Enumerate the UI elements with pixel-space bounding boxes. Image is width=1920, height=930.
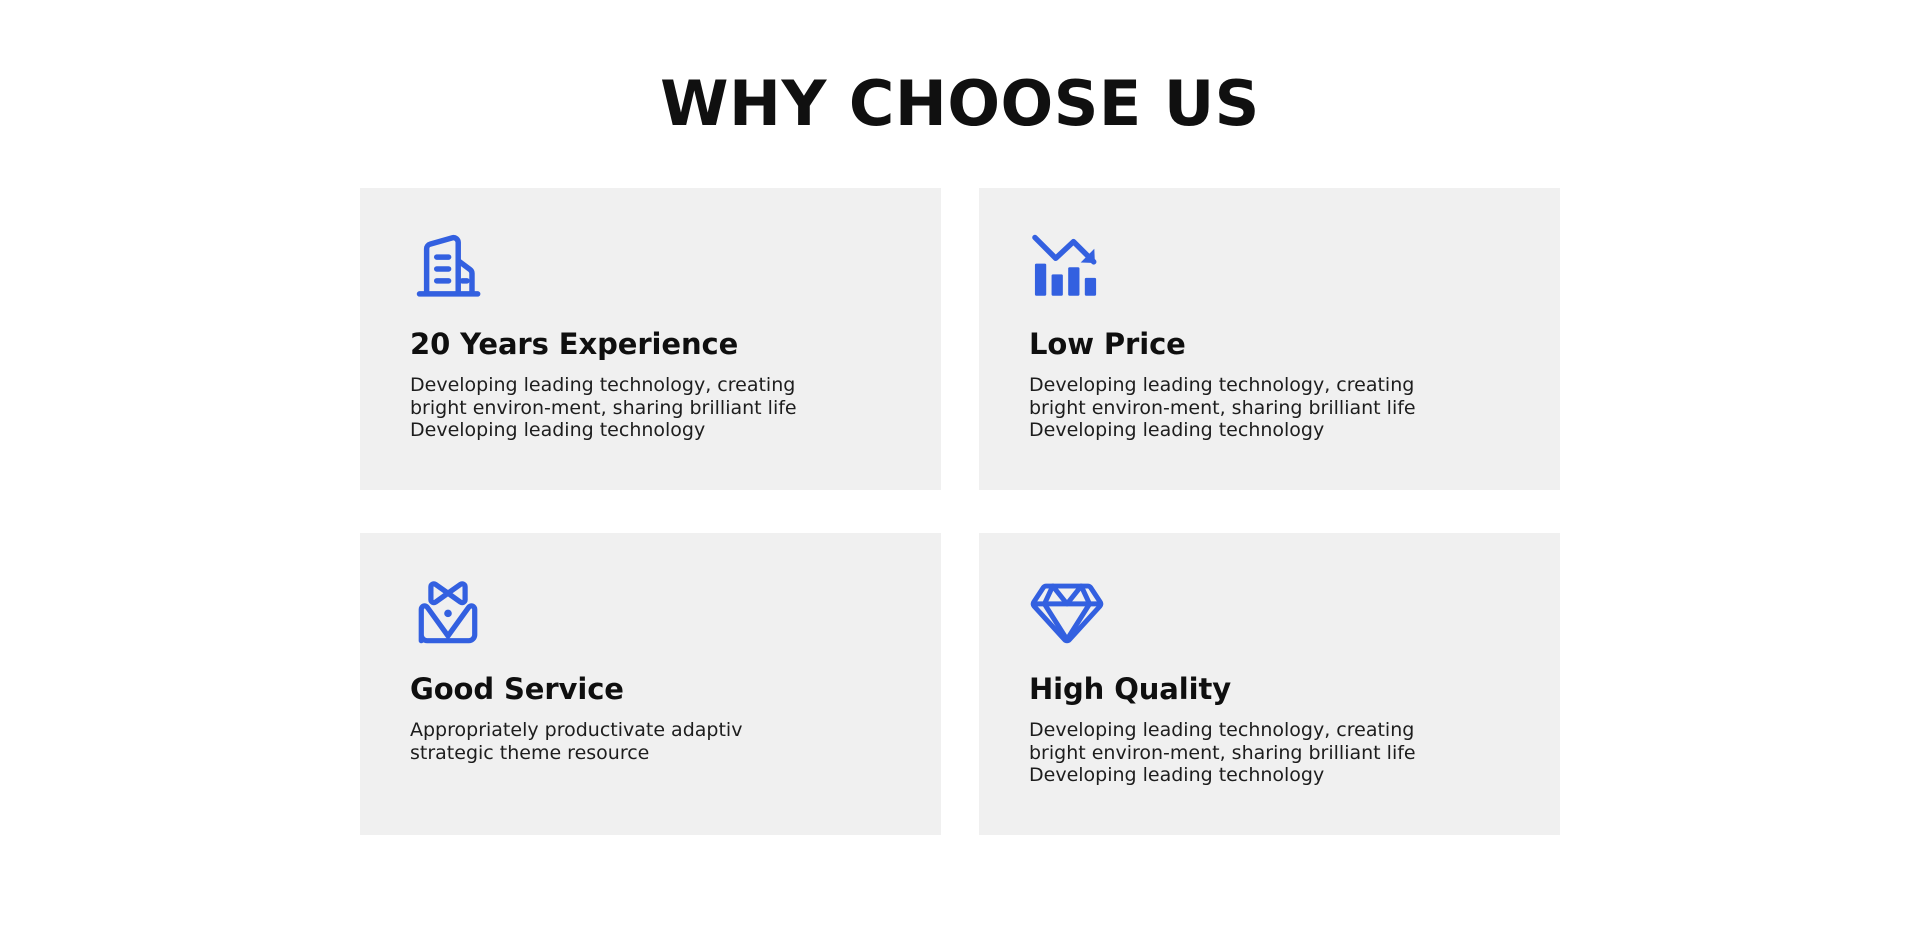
- feature-card-title: High Quality: [1029, 671, 1510, 707]
- diamond-gem-icon: [1029, 573, 1105, 649]
- declining-bar-chart-icon: [1029, 228, 1105, 304]
- bowtie-suit-icon: [410, 573, 486, 649]
- feature-card-title: 20 Years Experience: [410, 326, 891, 362]
- feature-card-description: Developing leading technology, creating …: [1029, 719, 1449, 787]
- feature-card-description: Developing leading technology, creating …: [1029, 374, 1449, 442]
- feature-card-high-quality[interactable]: High Quality Developing leading technolo…: [979, 533, 1560, 835]
- feature-card-description: Appropriately productivate adaptiv strat…: [410, 719, 830, 764]
- feature-card-title: Low Price: [1029, 326, 1510, 362]
- page-title: WHY CHOOSE US: [0, 66, 1920, 142]
- feature-card-experience[interactable]: 20 Years Experience Developing leading t…: [360, 188, 941, 490]
- feature-card-description: Developing leading technology, creating …: [410, 374, 830, 442]
- feature-card-good-service[interactable]: Good Service Appropriately productivate …: [360, 533, 941, 835]
- office-building-icon: [410, 228, 486, 304]
- feature-card-low-price[interactable]: Low Price Developing leading technology,…: [979, 188, 1560, 490]
- feature-card-grid: 20 Years Experience Developing leading t…: [360, 188, 1560, 835]
- why-choose-us-section: WHY CHOOSE US 20 Years Experience Develo…: [0, 0, 1920, 930]
- feature-card-title: Good Service: [410, 671, 891, 707]
